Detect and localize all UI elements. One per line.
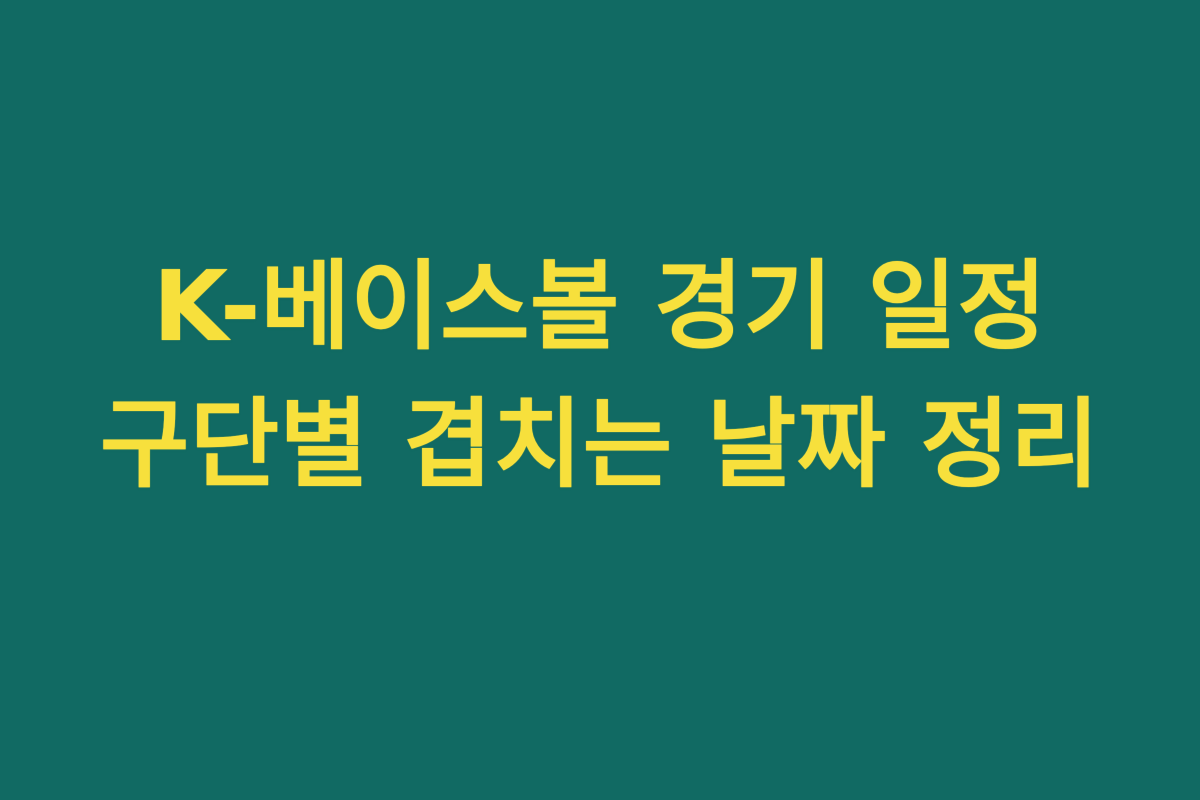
headline-line-1: K-베이스볼 경기 일정 [40, 238, 1160, 376]
thumbnail-banner: K-베이스볼 경기 일정 구단별 겹치는 날짜 정리 [0, 0, 1200, 800]
headline-line-2: 구단별 겹치는 날짜 정리 [40, 376, 1160, 514]
headline-block: K-베이스볼 경기 일정 구단별 겹치는 날짜 정리 [40, 238, 1160, 513]
